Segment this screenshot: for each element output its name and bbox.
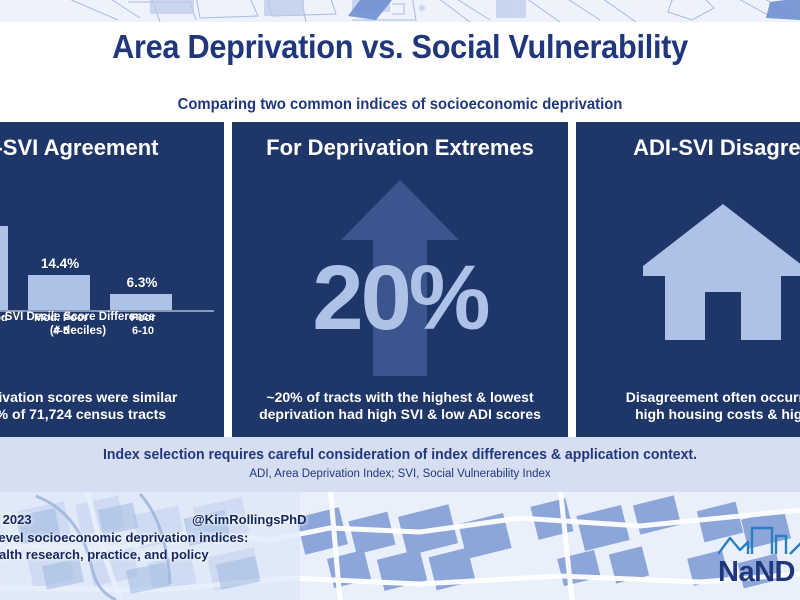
infographic-canvas: Area Deprivation vs. Social Vulnerabilit… — [0, 0, 800, 600]
panels-row: -SVI Agreement 34.9% 14.4% 6.3% — [0, 122, 800, 437]
panel-left-title: -SVI Agreement — [0, 135, 224, 161]
footer-map-area: LoS One, 2023 @KimRollingsPhD wo area-le… — [0, 492, 800, 600]
bar-value-mod-poor: 14.4% — [14, 256, 106, 271]
citation-block: LoS One, 2023 @KimRollingsPhD wo area-le… — [0, 511, 462, 564]
arrow-graphic-wrap: 20% — [232, 180, 568, 380]
bar-value-poor: 6.3% — [96, 275, 188, 290]
big-percentage: 20% — [232, 252, 568, 344]
social-handle[interactable]: @KimRollingsPhD — [192, 511, 307, 529]
citation-row-1: LoS One, 2023 @KimRollingsPhD — [0, 511, 462, 529]
panel-right-caption-line2: high housing costs & high — [586, 406, 800, 423]
chart-axis-label-line1: -SVI Decile Score Difference — [0, 310, 214, 324]
page-subtitle: Comparing two common indices of socioeco… — [16, 96, 784, 114]
panel-right-caption-line1: Disagreement often occurred — [586, 389, 800, 406]
takeaway-band: Index selection requires careful conside… — [0, 437, 800, 492]
chart-axis-label: -SVI Decile Score Difference (# deciles) — [0, 310, 214, 339]
panel-left-caption-line1: eprivation scores were similar — [0, 389, 214, 406]
nanda-logo: NaND — [718, 522, 800, 592]
bar-mod-good — [0, 226, 8, 310]
panel-adi-svi-disagreement: ADI-SVI Disagree Disagreement often occu… — [576, 122, 800, 437]
top-map-decoration — [0, 0, 800, 22]
panel-right-title: ADI-SVI Disagree — [576, 135, 800, 161]
bar-poor — [110, 294, 172, 310]
bar-mod-poor — [28, 275, 90, 310]
takeaway-text: Index selection requires careful conside… — [12, 447, 788, 463]
panel-middle-caption-line2: deprivation had high SVI & low ADI score… — [242, 406, 558, 423]
header: Area Deprivation vs. Social Vulnerabilit… — [0, 22, 800, 122]
citation-row-3: public health research, practice, and po… — [0, 546, 462, 564]
house-graphic-wrap — [576, 182, 800, 382]
citation-journal: LoS One, 2023 — [0, 512, 32, 527]
panel-deprivation-extremes: For Deprivation Extremes 20% ~20% of tra… — [232, 122, 568, 437]
citation-row-2: wo area-level socioeconomic deprivation … — [0, 529, 462, 547]
bar-value-mod-good: 34.9% — [0, 207, 24, 222]
panel-middle-caption: ~20% of tracts with the highest & lowest… — [242, 389, 558, 423]
skyline-icon — [718, 522, 800, 556]
house-icon — [643, 204, 800, 340]
chart-axis-label-line2: (# deciles) — [0, 324, 214, 338]
agreement-bar-chart: 34.9% 14.4% 6.3% Mod. Good 2-3 Mod. Poor… — [0, 184, 214, 344]
page-title: Area Deprivation vs. Social Vulnerabilit… — [28, 28, 772, 66]
logo-wordmark: NaND — [718, 556, 795, 589]
panel-adi-svi-agreement: -SVI Agreement 34.9% 14.4% 6.3% — [0, 122, 224, 437]
panel-left-caption: eprivation scores were similar 4% of 71,… — [0, 389, 214, 423]
abbreviation-legend: ADI, Area Deprivation Index; SVI, Social… — [0, 468, 800, 480]
panel-middle-caption-line1: ~20% of tracts with the highest & lowest — [242, 389, 558, 406]
chart-plot-area: 34.9% 14.4% 6.3% — [0, 204, 214, 312]
panel-left-caption-line2: 4% of 71,724 census tracts — [0, 406, 214, 423]
panel-right-caption: Disagreement often occurred high housing… — [586, 389, 800, 423]
panel-middle-title: For Deprivation Extremes — [232, 135, 568, 161]
